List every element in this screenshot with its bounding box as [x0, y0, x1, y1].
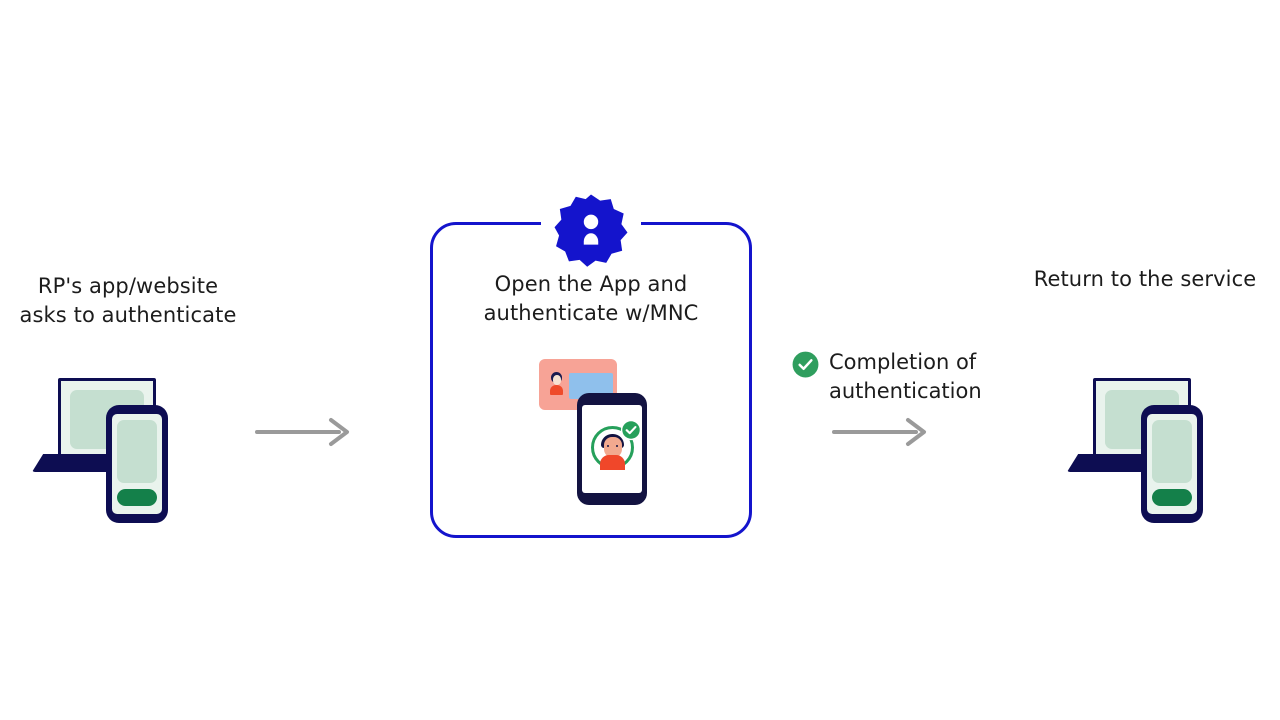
authentication-phone-screen — [582, 405, 642, 493]
person-seal-badge-icon — [553, 193, 629, 269]
face-body — [600, 455, 625, 470]
completion-label: Completion of authentication — [829, 348, 982, 406]
phone-action-button — [117, 489, 157, 506]
arrow-right-icon-1 — [255, 417, 351, 447]
step-left-caption: RP's app/website asks to authenticate — [0, 272, 256, 330]
id-card-photo-body — [550, 385, 563, 395]
id-card-photo-face — [553, 375, 561, 385]
phone-content-block — [1152, 420, 1192, 483]
authentication-phone-icon — [577, 393, 647, 505]
step-center-caption: Open the App and authenticate w/MNC — [430, 270, 752, 328]
arrow-right-icon-2 — [832, 417, 928, 447]
id-card-and-face-authentication-icon — [533, 355, 653, 510]
diagram-canvas: RP's app/website asks to authenticate Op… — [0, 0, 1280, 720]
check-circle-icon-face — [620, 419, 642, 441]
phone-icon — [106, 405, 168, 523]
step-right-caption: Return to the service — [1010, 265, 1280, 294]
completion-status-group: Completion of authentication — [792, 348, 1028, 406]
laptop-and-phone-icon-right — [1083, 370, 1223, 530]
check-circle-icon — [792, 351, 819, 378]
phone-screen — [1147, 414, 1197, 514]
phone-icon — [1141, 405, 1203, 523]
phone-action-button — [1152, 489, 1192, 506]
phone-content-block — [117, 420, 157, 483]
phone-screen — [112, 414, 162, 514]
laptop-and-phone-icon-left — [48, 370, 188, 530]
